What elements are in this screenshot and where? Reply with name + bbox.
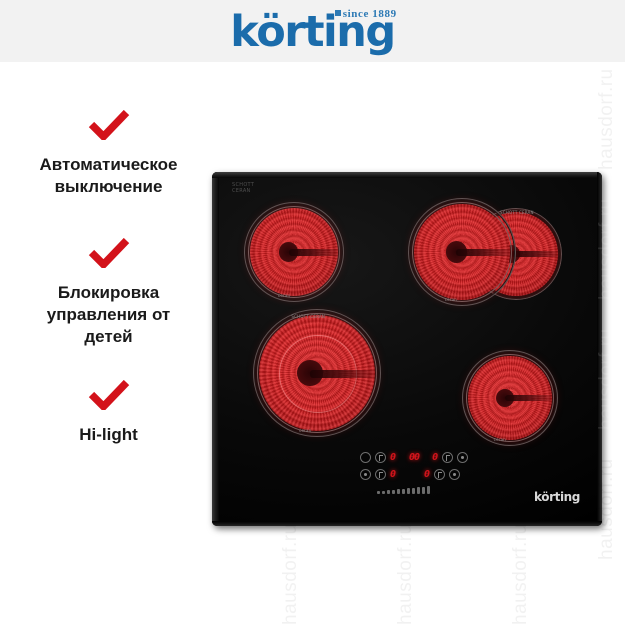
power-icon[interactable]: [449, 469, 460, 480]
slider-tick: [412, 488, 415, 495]
watermark: hausdorf.ru: [510, 523, 532, 625]
power-increase-icon[interactable]: [442, 452, 453, 463]
burner-spoke: [456, 249, 512, 256]
feature-label-hi-light: Hi-light: [6, 424, 211, 446]
burner-glow: [468, 356, 552, 440]
display-zone-3: 0: [390, 470, 396, 480]
brand-tagline: since 1889: [335, 8, 397, 20]
burner-caption: SCHOTT CERAN: [291, 314, 325, 319]
slider-tick: [407, 488, 410, 494]
burner-spoke: [310, 370, 377, 378]
slider-tick: [397, 489, 400, 494]
power-decrease-icon[interactable]: [375, 469, 386, 480]
brand-square-icon: [335, 10, 341, 16]
burner-glow: [414, 204, 510, 300]
burner-spoke: [511, 251, 560, 257]
burner-spoke: [289, 249, 340, 255]
burner-front-right[interactable]: ceran: [462, 350, 558, 446]
burner-caption: ceran: [278, 293, 290, 298]
feature-list: Автоматическое выключение Блокировка упр…: [6, 110, 211, 473]
hob-edge-right: [597, 172, 602, 526]
power-slider[interactable]: [377, 486, 451, 494]
watermark: hausdorf.ru: [596, 68, 618, 170]
slider-tick: [417, 487, 420, 494]
slider-tick: [402, 489, 405, 495]
feature-item-child-lock: Блокировка управления от детей: [6, 238, 211, 348]
power-decrease-icon[interactable]: [375, 452, 386, 463]
slider-tick: [422, 487, 425, 495]
control-panel-row-bottom: 0 0: [360, 467, 472, 482]
display-zone-2: 0: [432, 453, 438, 463]
watermark: hausdorf.ru: [280, 523, 302, 625]
brand-tagline-text: since 1889: [343, 8, 397, 20]
burner-caption: ceran: [445, 297, 457, 302]
hob-edge-left: [212, 172, 219, 526]
burner-rear-left[interactable]: ceran: [244, 202, 344, 302]
burner-spoke: [505, 395, 554, 401]
watermark: hausdorf.ru: [395, 523, 417, 625]
burner-caption-bottom: ceran: [299, 428, 311, 433]
timer-decrease-icon[interactable]: [360, 452, 371, 463]
slider-tick: [387, 490, 390, 494]
display-zone-4: 0: [424, 470, 430, 480]
control-panel-row-top: 0 00 0: [360, 450, 472, 465]
slider-tick: [377, 491, 380, 494]
control-panel[interactable]: 0 00 0 0 0: [360, 450, 472, 502]
check-icon: [88, 238, 130, 268]
timer-icon[interactable]: [360, 469, 371, 480]
feature-label-child-lock: Блокировка управления от детей: [6, 282, 211, 348]
feature-label-auto-shutoff: Автоматическое выключение: [6, 154, 211, 198]
hob-edge-top: [212, 172, 602, 178]
slider-tick: [392, 490, 395, 495]
product-image-hob: SCHOTT CERAN ceran ceran SCHOTT CERAN: [212, 172, 602, 526]
lock-icon[interactable]: [457, 452, 468, 463]
slider-tick: [427, 486, 430, 494]
hob-edge-bottom: [212, 521, 602, 526]
burner-rear-right-caption: SCHOTT CERAN: [500, 210, 534, 215]
feature-item-auto-shutoff: Автоматическое выключение: [6, 110, 211, 198]
check-icon: [88, 110, 130, 140]
brand-logo-wrap: körting since 1889: [230, 11, 394, 54]
hob-brand-mark: körting: [534, 490, 580, 504]
display-zone-1: 0: [390, 453, 396, 463]
burner-glow: [250, 208, 338, 296]
brand-logo: körting since 1889: [0, 4, 625, 60]
slider-tick: [382, 491, 385, 495]
power-increase-icon[interactable]: [434, 469, 445, 480]
burner-front-left[interactable]: SCHOTT CERAN ceran: [253, 309, 381, 437]
display-timer: 00: [409, 453, 419, 463]
feature-item-hi-light: Hi-light: [6, 380, 211, 446]
hob-glass-label: SCHOTT CERAN: [232, 182, 254, 195]
burner-glow: [259, 315, 375, 431]
check-icon: [88, 380, 130, 410]
burner-caption: ceran: [494, 437, 506, 442]
